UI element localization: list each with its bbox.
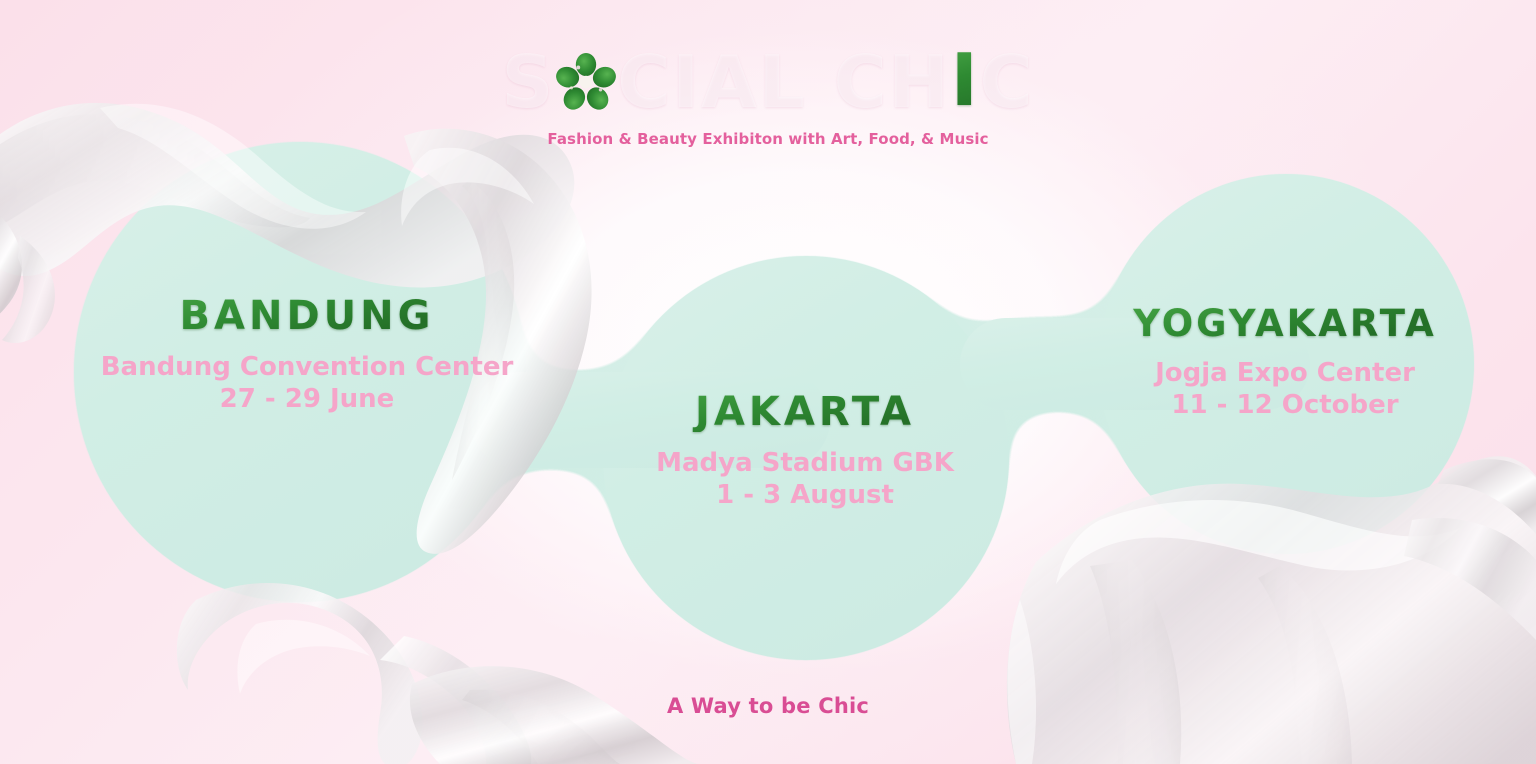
logo-letter-s: S <box>502 38 556 122</box>
city-venue-bandung: Bandung Convention Center <box>72 352 542 384</box>
poster-canvas: S <box>0 0 1536 764</box>
logo-letters-cial: CIAL <box>617 38 806 122</box>
logo-letter-c: C <box>980 38 1035 122</box>
city-block-jakarta: JAKARTA Madya Stadium GBK 1 - 3 August <box>570 392 1040 511</box>
logo-letter-i-green: I <box>951 38 980 122</box>
event-logo: S <box>502 44 1035 116</box>
city-venue-jakarta: Madya Stadium GBK <box>570 448 1040 480</box>
city-date-jakarta: 1 - 3 August <box>570 480 1040 512</box>
city-block-yogyakarta: YOGYAKARTA Jogja Expo Center 11 - 12 Oct… <box>1050 305 1520 421</box>
event-subtitle: Fashion & Beauty Exhibiton with Art, Foo… <box>0 130 1536 148</box>
city-name-jakarta: JAKARTA <box>570 392 1040 432</box>
city-name-yogyakarta: YOGYAKARTA <box>1050 305 1520 342</box>
logo-space <box>807 38 834 122</box>
city-block-bandung: BANDUNG Bandung Convention Center 27 - 2… <box>72 296 542 415</box>
city-name-bandung: BANDUNG <box>72 296 542 336</box>
poster-header: S <box>0 44 1536 148</box>
logo-letters-ch: CH <box>834 38 951 122</box>
city-date-bandung: 27 - 29 June <box>72 384 542 416</box>
flower-icon <box>555 51 617 113</box>
city-venue-yogyakarta: Jogja Expo Center <box>1050 358 1520 390</box>
city-date-yogyakarta: 11 - 12 October <box>1050 390 1520 422</box>
footer-tagline: A Way to be Chic <box>0 694 1536 718</box>
poster-footer: A Way to be Chic <box>0 694 1536 718</box>
